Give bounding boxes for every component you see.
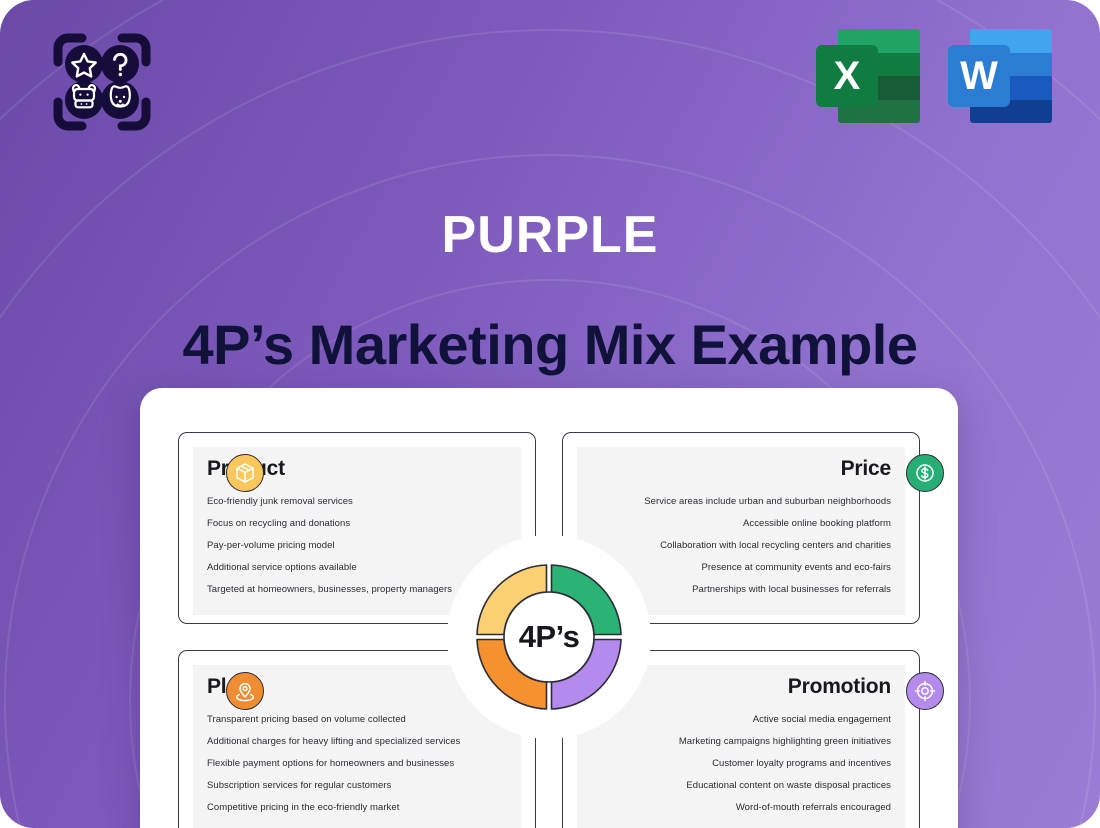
list-item: Additional charges for heavy lifting and… bbox=[207, 737, 507, 747]
quadrant-place-list: Transparent pricing based on volume coll… bbox=[207, 715, 507, 813]
list-item: Customer loyalty programs and incentives bbox=[591, 759, 891, 769]
list-item: Eco-friendly junk removal services bbox=[207, 497, 507, 507]
slide-canvas: X W PURPLE 4P’s Marketing Mix Example Pr… bbox=[0, 0, 1100, 828]
diagram-card: Product Eco-friendly junk removal servic… bbox=[140, 388, 958, 828]
brand-logo[interactable] bbox=[48, 28, 156, 136]
location-pin-icon[interactable] bbox=[226, 672, 264, 710]
brand-eyebrow: PURPLE bbox=[0, 205, 1100, 265]
list-item: Competitive pricing in the eco-friendly … bbox=[207, 803, 507, 813]
list-item: Focus on recycling and donations bbox=[207, 519, 507, 529]
list-item: Marketing campaigns highlighting green i… bbox=[591, 737, 891, 747]
list-item: Subscription services for regular custom… bbox=[207, 781, 507, 791]
list-item: Service areas include urban and suburban… bbox=[591, 497, 891, 507]
word-letter: W bbox=[948, 45, 1010, 107]
four-p-donut-chart[interactable]: 4P’s bbox=[461, 549, 637, 725]
page-title: 4P’s Marketing Mix Example bbox=[0, 312, 1100, 377]
star-badge bbox=[65, 45, 103, 83]
quadrant-promotion-list: Active social media engagement Marketing… bbox=[591, 715, 891, 813]
excel-icon[interactable]: X bbox=[816, 29, 920, 123]
question-badge bbox=[101, 45, 139, 83]
four-p-matrix: Product Eco-friendly junk removal servic… bbox=[178, 432, 920, 828]
donut-center-label: 4P’s bbox=[461, 549, 637, 725]
excel-letter: X bbox=[816, 45, 878, 107]
dollar-coin-icon[interactable] bbox=[906, 454, 944, 492]
list-item: Word-of-mouth referrals encouraged bbox=[591, 803, 891, 813]
list-item: Educational content on waste disposal pr… bbox=[591, 781, 891, 791]
list-item: Accessible online booking platform bbox=[591, 519, 891, 529]
target-crosshair-icon[interactable] bbox=[906, 672, 944, 710]
office-app-icons: X W bbox=[816, 29, 1052, 123]
package-box-icon[interactable] bbox=[226, 454, 264, 492]
word-icon[interactable]: W bbox=[948, 29, 1052, 123]
quadrant-price-title: Price bbox=[591, 457, 891, 481]
list-item: Flexible payment options for homeowners … bbox=[207, 759, 507, 769]
